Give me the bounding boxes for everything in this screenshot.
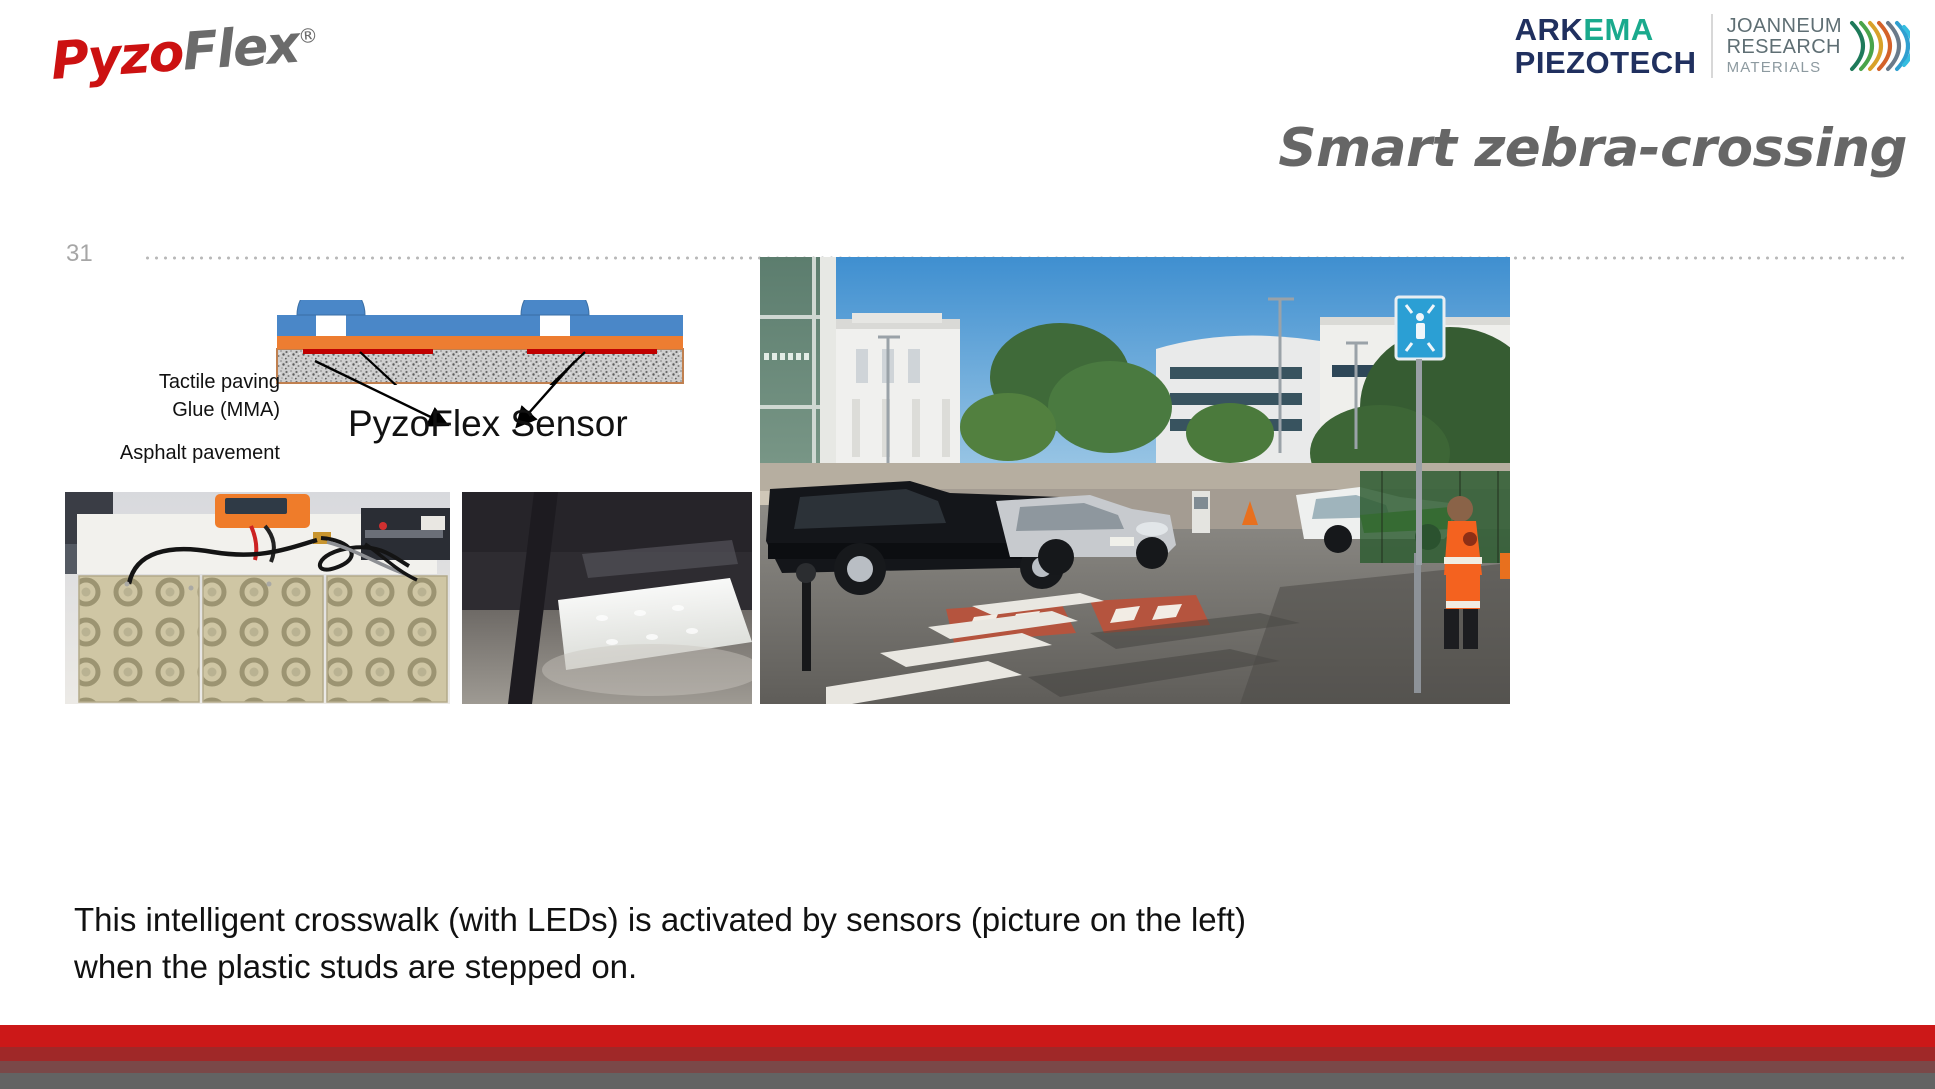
pyzoflex-logo: PyzoFlex® [49, 15, 354, 116]
arkema-e: E [1583, 12, 1604, 47]
footer-bar-gray [0, 1073, 1935, 1089]
slide: PyzoFlex® ARKEMA PIEZOTECH JOANNEUM RESE… [0, 0, 1935, 1089]
caption-line-1: This intelligent crosswalk (with LEDs) i… [74, 897, 1474, 944]
pyzoflex-logo-pyzo: Pyzo [49, 23, 185, 92]
piezotech-wordmark: PIEZOTECH [1515, 47, 1697, 78]
arkema-wordmark: ARKEMA [1515, 14, 1697, 45]
footer-bar-dark-red [0, 1047, 1935, 1061]
pyzoflex-logo-flex: Flex [181, 15, 301, 83]
arkema-ark: ARK [1515, 12, 1584, 47]
joanneum-wordmark: JOANNEUM RESEARCH MATERIALS [1727, 16, 1842, 76]
joanneum-research-logo: JOANNEUM RESEARCH MATERIALS [1727, 16, 1910, 76]
label-tactile-paving: Tactile paving [105, 368, 280, 396]
joanneum-line2: RESEARCH [1727, 37, 1842, 58]
footer-bar-muted [0, 1061, 1935, 1073]
joanneum-line1: JOANNEUM [1727, 16, 1842, 37]
photo-street-crossing [760, 257, 1510, 704]
arkema-ma: MA [1605, 12, 1654, 47]
footer-bars [0, 1025, 1935, 1089]
label-asphalt-pavement: Asphalt pavement [105, 439, 280, 467]
joanneum-arcs-icon [1848, 17, 1910, 75]
joanneum-line3: MATERIALS [1727, 60, 1842, 76]
page-title: Smart zebra-crossing [1278, 118, 1907, 179]
registered-mark-icon: ® [297, 23, 317, 48]
diagram-labels: Tactile paving Glue (MMA) Asphalt paveme… [105, 368, 280, 467]
slide-caption: This intelligent crosswalk (with LEDs) i… [74, 897, 1474, 991]
photo-sensor-array [65, 492, 450, 704]
footer-bar-red [0, 1025, 1935, 1047]
caption-line-2: when the plastic studs are stepped on. [74, 944, 1474, 991]
page-number: 31 [66, 240, 93, 268]
label-glue-mma: Glue (MMA) [105, 396, 280, 424]
pyzoflex-logo-text: PyzoFlex® [49, 15, 352, 88]
photo-led-stud [462, 492, 752, 704]
partner-logos: ARKEMA PIEZOTECH JOANNEUM RESEARCH MATER… [1515, 14, 1910, 78]
arkema-piezotech-logo: ARKEMA PIEZOTECH [1515, 14, 1713, 78]
sensor-caption: PyzoFlex Sensor [348, 403, 628, 445]
